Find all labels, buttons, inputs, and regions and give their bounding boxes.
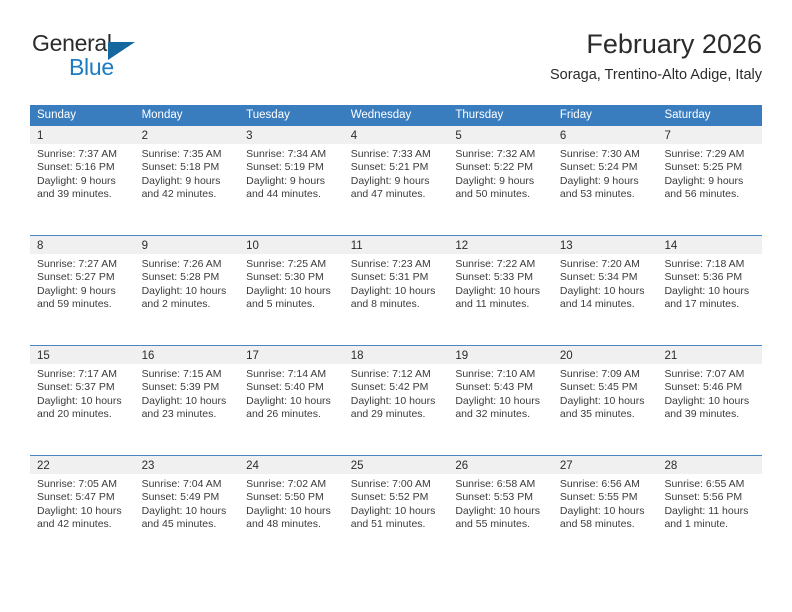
daylight-text-line1: Daylight: 10 hours: [351, 395, 442, 408]
day-info: Sunrise: 7:17 AM Sunset: 5:37 PM Dayligh…: [30, 364, 135, 422]
day-info: Sunrise: 7:25 AM Sunset: 5:30 PM Dayligh…: [239, 254, 344, 312]
daylight-text-line2: and 44 minutes.: [246, 188, 337, 201]
sunset-text: Sunset: 5:34 PM: [560, 271, 651, 284]
sunrise-text: Sunrise: 7:18 AM: [664, 258, 755, 271]
daylight-text-line2: and 17 minutes.: [664, 298, 755, 311]
day-number: 14: [664, 240, 677, 252]
daylight-text-line2: and 51 minutes.: [351, 518, 442, 531]
daylight-text-line1: Daylight: 10 hours: [664, 285, 755, 298]
day-number: 15: [37, 350, 50, 362]
daylight-text-line2: and 23 minutes.: [142, 408, 233, 421]
sunrise-text: Sunrise: 7:09 AM: [560, 368, 651, 381]
weekday-header-thursday: Thursday: [448, 105, 553, 126]
daylight-text-line2: and 58 minutes.: [560, 518, 651, 531]
day-info: Sunrise: 7:10 AM Sunset: 5:43 PM Dayligh…: [448, 364, 553, 422]
sunset-text: Sunset: 5:27 PM: [37, 271, 128, 284]
daylight-text-line2: and 39 minutes.: [37, 188, 128, 201]
day-number-band: 26: [448, 456, 553, 474]
day-number-band: 19: [448, 346, 553, 364]
daylight-text-line2: and 8 minutes.: [351, 298, 442, 311]
daylight-text-line1: Daylight: 9 hours: [246, 175, 337, 188]
daylight-text-line1: Daylight: 9 hours: [455, 175, 546, 188]
daylight-text-line1: Daylight: 9 hours: [351, 175, 442, 188]
page-header: General Blue February 2026 Soraga, Trent…: [30, 28, 762, 98]
daylight-text-line2: and 29 minutes.: [351, 408, 442, 421]
day-number: 27: [560, 460, 573, 472]
daylight-text-line1: Daylight: 10 hours: [246, 285, 337, 298]
sunset-text: Sunset: 5:40 PM: [246, 381, 337, 394]
day-number-band: 21: [657, 346, 762, 364]
daylight-text-line2: and 45 minutes.: [142, 518, 233, 531]
sunrise-text: Sunrise: 7:04 AM: [142, 478, 233, 491]
calendar-page: General Blue February 2026 Soraga, Trent…: [0, 0, 792, 612]
daylight-text-line2: and 32 minutes.: [455, 408, 546, 421]
day-cell[interactable]: 15 Sunrise: 7:17 AM Sunset: 5:37 PM Dayl…: [30, 346, 135, 455]
day-cell[interactable]: 25 Sunrise: 7:00 AM Sunset: 5:52 PM Dayl…: [344, 456, 449, 566]
daylight-text-line2: and 53 minutes.: [560, 188, 651, 201]
day-cell[interactable]: 9 Sunrise: 7:26 AM Sunset: 5:28 PM Dayli…: [135, 236, 240, 345]
sunset-text: Sunset: 5:49 PM: [142, 491, 233, 504]
daylight-text-line2: and 14 minutes.: [560, 298, 651, 311]
sunset-text: Sunset: 5:37 PM: [37, 381, 128, 394]
day-number: 6: [560, 130, 566, 142]
day-number-band: 28: [657, 456, 762, 474]
daylight-text-line1: Daylight: 10 hours: [664, 395, 755, 408]
sunset-text: Sunset: 5:52 PM: [351, 491, 442, 504]
day-cell[interactable]: 12 Sunrise: 7:22 AM Sunset: 5:33 PM Dayl…: [448, 236, 553, 345]
daylight-text-line2: and 35 minutes.: [560, 408, 651, 421]
daylight-text-line1: Daylight: 10 hours: [37, 395, 128, 408]
day-info: Sunrise: 7:20 AM Sunset: 5:34 PM Dayligh…: [553, 254, 658, 312]
sunrise-text: Sunrise: 6:58 AM: [455, 478, 546, 491]
day-number: 12: [455, 240, 468, 252]
day-cell[interactable]: 22 Sunrise: 7:05 AM Sunset: 5:47 PM Dayl…: [30, 456, 135, 566]
day-number: 23: [142, 460, 155, 472]
week-row: 8 Sunrise: 7:27 AM Sunset: 5:27 PM Dayli…: [30, 236, 762, 346]
sunset-text: Sunset: 5:50 PM: [246, 491, 337, 504]
day-number: 2: [142, 130, 148, 142]
daylight-text-line2: and 42 minutes.: [142, 188, 233, 201]
logo-text-general: General: [32, 30, 112, 57]
daylight-text-line1: Daylight: 10 hours: [142, 285, 233, 298]
daylight-text-line1: Daylight: 10 hours: [560, 505, 651, 518]
day-number: 3: [246, 130, 252, 142]
general-blue-logo: General Blue: [32, 30, 252, 88]
day-cell[interactable]: 27 Sunrise: 6:56 AM Sunset: 5:55 PM Dayl…: [553, 456, 658, 566]
day-number: 16: [142, 350, 155, 362]
day-number-band: 1: [30, 126, 135, 144]
sunrise-text: Sunrise: 7:26 AM: [142, 258, 233, 271]
daylight-text-line1: Daylight: 10 hours: [351, 285, 442, 298]
weekday-header-row: Sunday Monday Tuesday Wednesday Thursday…: [30, 105, 762, 126]
day-info: Sunrise: 7:02 AM Sunset: 5:50 PM Dayligh…: [239, 474, 344, 532]
day-number-band: 16: [135, 346, 240, 364]
day-number: 24: [246, 460, 259, 472]
day-number: 25: [351, 460, 364, 472]
day-cell[interactable]: 1 Sunrise: 7:37 AM Sunset: 5:16 PM Dayli…: [30, 126, 135, 235]
day-info: Sunrise: 7:32 AM Sunset: 5:22 PM Dayligh…: [448, 144, 553, 202]
weekday-header-saturday: Saturday: [657, 105, 762, 126]
daylight-text-line2: and 11 minutes.: [455, 298, 546, 311]
daylight-text-line2: and 20 minutes.: [37, 408, 128, 421]
sunrise-text: Sunrise: 7:30 AM: [560, 148, 651, 161]
daylight-text-line1: Daylight: 10 hours: [455, 505, 546, 518]
day-number-band: 5: [448, 126, 553, 144]
sunset-text: Sunset: 5:16 PM: [37, 161, 128, 174]
sunset-text: Sunset: 5:25 PM: [664, 161, 755, 174]
sunrise-text: Sunrise: 7:25 AM: [246, 258, 337, 271]
day-number-band: 10: [239, 236, 344, 254]
daylight-text-line2: and 26 minutes.: [246, 408, 337, 421]
day-cell[interactable]: 17 Sunrise: 7:14 AM Sunset: 5:40 PM Dayl…: [239, 346, 344, 455]
day-info: Sunrise: 6:58 AM Sunset: 5:53 PM Dayligh…: [448, 474, 553, 532]
day-number: 26: [455, 460, 468, 472]
sunset-text: Sunset: 5:22 PM: [455, 161, 546, 174]
sunset-text: Sunset: 5:36 PM: [664, 271, 755, 284]
day-number-band: 6: [553, 126, 658, 144]
daylight-text-line2: and 47 minutes.: [351, 188, 442, 201]
day-number-band: 4: [344, 126, 449, 144]
sunset-text: Sunset: 5:53 PM: [455, 491, 546, 504]
week-row: 15 Sunrise: 7:17 AM Sunset: 5:37 PM Dayl…: [30, 346, 762, 456]
calendar-grid: Sunday Monday Tuesday Wednesday Thursday…: [30, 105, 762, 566]
sunrise-text: Sunrise: 7:27 AM: [37, 258, 128, 271]
day-info: Sunrise: 7:33 AM Sunset: 5:21 PM Dayligh…: [344, 144, 449, 202]
day-number-band: 22: [30, 456, 135, 474]
sunset-text: Sunset: 5:56 PM: [664, 491, 755, 504]
day-number-band: 24: [239, 456, 344, 474]
sunset-text: Sunset: 5:30 PM: [246, 271, 337, 284]
day-number: 9: [142, 240, 148, 252]
day-cell[interactable]: 7 Sunrise: 7:29 AM Sunset: 5:25 PM Dayli…: [657, 126, 762, 235]
day-info: Sunrise: 7:37 AM Sunset: 5:16 PM Dayligh…: [30, 144, 135, 202]
daylight-text-line1: Daylight: 9 hours: [37, 175, 128, 188]
sunrise-text: Sunrise: 7:05 AM: [37, 478, 128, 491]
daylight-text-line2: and 56 minutes.: [664, 188, 755, 201]
day-number: 10: [246, 240, 259, 252]
day-cell[interactable]: 8 Sunrise: 7:27 AM Sunset: 5:27 PM Dayli…: [30, 236, 135, 345]
sunrise-text: Sunrise: 6:56 AM: [560, 478, 651, 491]
day-cell[interactable]: 10 Sunrise: 7:25 AM Sunset: 5:30 PM Dayl…: [239, 236, 344, 345]
day-info: Sunrise: 7:23 AM Sunset: 5:31 PM Dayligh…: [344, 254, 449, 312]
day-info: Sunrise: 7:14 AM Sunset: 5:40 PM Dayligh…: [239, 364, 344, 422]
day-cell[interactable]: 20 Sunrise: 7:09 AM Sunset: 5:45 PM Dayl…: [553, 346, 658, 455]
daylight-text-line1: Daylight: 10 hours: [560, 285, 651, 298]
sunrise-text: Sunrise: 6:55 AM: [664, 478, 755, 491]
sunrise-text: Sunrise: 7:00 AM: [351, 478, 442, 491]
daylight-text-line2: and 39 minutes.: [664, 408, 755, 421]
sunset-text: Sunset: 5:33 PM: [455, 271, 546, 284]
day-info: Sunrise: 7:15 AM Sunset: 5:39 PM Dayligh…: [135, 364, 240, 422]
day-cell[interactable]: 2 Sunrise: 7:35 AM Sunset: 5:18 PM Dayli…: [135, 126, 240, 235]
day-info: Sunrise: 7:34 AM Sunset: 5:19 PM Dayligh…: [239, 144, 344, 202]
page-subtitle: Soraga, Trentino-Alto Adige, Italy: [550, 65, 762, 86]
daylight-text-line1: Daylight: 10 hours: [560, 395, 651, 408]
sunrise-text: Sunrise: 7:02 AM: [246, 478, 337, 491]
daylight-text-line1: Daylight: 10 hours: [246, 505, 337, 518]
daylight-text-line1: Daylight: 10 hours: [37, 505, 128, 518]
daylight-text-line1: Daylight: 10 hours: [351, 505, 442, 518]
day-info: Sunrise: 7:07 AM Sunset: 5:46 PM Dayligh…: [657, 364, 762, 422]
daylight-text-line1: Daylight: 10 hours: [455, 395, 546, 408]
day-cell[interactable]: 4 Sunrise: 7:33 AM Sunset: 5:21 PM Dayli…: [344, 126, 449, 235]
day-number-band: 18: [344, 346, 449, 364]
sunset-text: Sunset: 5:43 PM: [455, 381, 546, 394]
day-cell[interactable]: 21 Sunrise: 7:07 AM Sunset: 5:46 PM Dayl…: [657, 346, 762, 455]
sunset-text: Sunset: 5:45 PM: [560, 381, 651, 394]
daylight-text-line1: Daylight: 10 hours: [142, 505, 233, 518]
sunrise-text: Sunrise: 7:14 AM: [246, 368, 337, 381]
day-number-band: 15: [30, 346, 135, 364]
day-number: 5: [455, 130, 461, 142]
day-number: 28: [664, 460, 677, 472]
day-number-band: 8: [30, 236, 135, 254]
day-cell[interactable]: 14 Sunrise: 7:18 AM Sunset: 5:36 PM Dayl…: [657, 236, 762, 345]
weekday-header-friday: Friday: [553, 105, 658, 126]
sunset-text: Sunset: 5:31 PM: [351, 271, 442, 284]
day-cell[interactable]: 26 Sunrise: 6:58 AM Sunset: 5:53 PM Dayl…: [448, 456, 553, 566]
day-number-band: 14: [657, 236, 762, 254]
day-number: 11: [351, 240, 363, 252]
week-row: 22 Sunrise: 7:05 AM Sunset: 5:47 PM Dayl…: [30, 456, 762, 566]
day-number: 8: [37, 240, 43, 252]
day-info: Sunrise: 7:26 AM Sunset: 5:28 PM Dayligh…: [135, 254, 240, 312]
sunset-text: Sunset: 5:18 PM: [142, 161, 233, 174]
weekday-header-sunday: Sunday: [30, 105, 135, 126]
day-number: 20: [560, 350, 573, 362]
sunrise-text: Sunrise: 7:15 AM: [142, 368, 233, 381]
sunrise-text: Sunrise: 7:10 AM: [455, 368, 546, 381]
page-title: February 2026: [550, 28, 762, 61]
sunrise-text: Sunrise: 7:34 AM: [246, 148, 337, 161]
daylight-text-line2: and 48 minutes.: [246, 518, 337, 531]
day-cell[interactable]: 23 Sunrise: 7:04 AM Sunset: 5:49 PM Dayl…: [135, 456, 240, 566]
sunrise-text: Sunrise: 7:07 AM: [664, 368, 755, 381]
sunrise-text: Sunrise: 7:35 AM: [142, 148, 233, 161]
day-number: 7: [664, 130, 670, 142]
daylight-text-line2: and 59 minutes.: [37, 298, 128, 311]
day-cell[interactable]: 6 Sunrise: 7:30 AM Sunset: 5:24 PM Dayli…: [553, 126, 658, 235]
sunset-text: Sunset: 5:39 PM: [142, 381, 233, 394]
sunset-text: Sunset: 5:21 PM: [351, 161, 442, 174]
day-info: Sunrise: 6:55 AM Sunset: 5:56 PM Dayligh…: [657, 474, 762, 532]
day-cell[interactable]: 18 Sunrise: 7:12 AM Sunset: 5:42 PM Dayl…: [344, 346, 449, 455]
day-cell[interactable]: 13 Sunrise: 7:20 AM Sunset: 5:34 PM Dayl…: [553, 236, 658, 345]
day-number-band: 27: [553, 456, 658, 474]
day-cell[interactable]: 28 Sunrise: 6:55 AM Sunset: 5:56 PM Dayl…: [657, 456, 762, 566]
daylight-text-line1: Daylight: 9 hours: [37, 285, 128, 298]
day-number-band: 25: [344, 456, 449, 474]
day-number-band: 11: [344, 236, 449, 254]
day-info: Sunrise: 7:04 AM Sunset: 5:49 PM Dayligh…: [135, 474, 240, 532]
day-number-band: 3: [239, 126, 344, 144]
sunrise-text: Sunrise: 7:23 AM: [351, 258, 442, 271]
sunset-text: Sunset: 5:24 PM: [560, 161, 651, 174]
day-cell[interactable]: 16 Sunrise: 7:15 AM Sunset: 5:39 PM Dayl…: [135, 346, 240, 455]
day-number: 13: [560, 240, 573, 252]
sunset-text: Sunset: 5:46 PM: [664, 381, 755, 394]
daylight-text-line1: Daylight: 10 hours: [246, 395, 337, 408]
day-info: Sunrise: 7:09 AM Sunset: 5:45 PM Dayligh…: [553, 364, 658, 422]
day-number: 17: [246, 350, 259, 362]
daylight-text-line2: and 5 minutes.: [246, 298, 337, 311]
day-number-band: 2: [135, 126, 240, 144]
day-number-band: 9: [135, 236, 240, 254]
sunrise-text: Sunrise: 7:20 AM: [560, 258, 651, 271]
day-info: Sunrise: 7:18 AM Sunset: 5:36 PM Dayligh…: [657, 254, 762, 312]
daylight-text-line1: Daylight: 9 hours: [142, 175, 233, 188]
sunrise-text: Sunrise: 7:29 AM: [664, 148, 755, 161]
sunrise-text: Sunrise: 7:22 AM: [455, 258, 546, 271]
day-cell[interactable]: 19 Sunrise: 7:10 AM Sunset: 5:43 PM Dayl…: [448, 346, 553, 455]
day-cell[interactable]: 3 Sunrise: 7:34 AM Sunset: 5:19 PM Dayli…: [239, 126, 344, 235]
day-cell[interactable]: 11 Sunrise: 7:23 AM Sunset: 5:31 PM Dayl…: [344, 236, 449, 345]
day-info: Sunrise: 7:00 AM Sunset: 5:52 PM Dayligh…: [344, 474, 449, 532]
day-number-band: 7: [657, 126, 762, 144]
weekday-header-wednesday: Wednesday: [344, 105, 449, 126]
day-number: 22: [37, 460, 50, 472]
day-number-band: 23: [135, 456, 240, 474]
sunrise-text: Sunrise: 7:33 AM: [351, 148, 442, 161]
sunset-text: Sunset: 5:28 PM: [142, 271, 233, 284]
daylight-text-line1: Daylight: 10 hours: [455, 285, 546, 298]
sunrise-text: Sunrise: 7:37 AM: [37, 148, 128, 161]
day-number: 19: [455, 350, 468, 362]
week-row: 1 Sunrise: 7:37 AM Sunset: 5:16 PM Dayli…: [30, 126, 762, 236]
day-cell[interactable]: 24 Sunrise: 7:02 AM Sunset: 5:50 PM Dayl…: [239, 456, 344, 566]
day-info: Sunrise: 7:12 AM Sunset: 5:42 PM Dayligh…: [344, 364, 449, 422]
daylight-text-line2: and 42 minutes.: [37, 518, 128, 531]
day-number: 4: [351, 130, 357, 142]
daylight-text-line1: Daylight: 9 hours: [664, 175, 755, 188]
day-info: Sunrise: 6:56 AM Sunset: 5:55 PM Dayligh…: [553, 474, 658, 532]
day-number-band: 20: [553, 346, 658, 364]
day-number: 18: [351, 350, 364, 362]
daylight-text-line2: and 55 minutes.: [455, 518, 546, 531]
daylight-text-line1: Daylight: 9 hours: [560, 175, 651, 188]
sunset-text: Sunset: 5:47 PM: [37, 491, 128, 504]
day-info: Sunrise: 7:29 AM Sunset: 5:25 PM Dayligh…: [657, 144, 762, 202]
sunset-text: Sunset: 5:42 PM: [351, 381, 442, 394]
day-number: 21: [664, 350, 677, 362]
weekday-header-tuesday: Tuesday: [239, 105, 344, 126]
day-number: 1: [37, 130, 43, 142]
day-info: Sunrise: 7:27 AM Sunset: 5:27 PM Dayligh…: [30, 254, 135, 312]
daylight-text-line2: and 2 minutes.: [142, 298, 233, 311]
daylight-text-line1: Daylight: 10 hours: [142, 395, 233, 408]
day-number-band: 17: [239, 346, 344, 364]
sunset-text: Sunset: 5:55 PM: [560, 491, 651, 504]
daylight-text-line1: Daylight: 11 hours: [664, 505, 755, 518]
daylight-text-line2: and 50 minutes.: [455, 188, 546, 201]
sunrise-text: Sunrise: 7:17 AM: [37, 368, 128, 381]
day-cell[interactable]: 5 Sunrise: 7:32 AM Sunset: 5:22 PM Dayli…: [448, 126, 553, 235]
day-info: Sunrise: 7:22 AM Sunset: 5:33 PM Dayligh…: [448, 254, 553, 312]
sunrise-text: Sunrise: 7:32 AM: [455, 148, 546, 161]
sunrise-text: Sunrise: 7:12 AM: [351, 368, 442, 381]
day-number-band: 12: [448, 236, 553, 254]
title-block: February 2026 Soraga, Trentino-Alto Adig…: [550, 28, 762, 86]
day-info: Sunrise: 7:30 AM Sunset: 5:24 PM Dayligh…: [553, 144, 658, 202]
weekday-header-monday: Monday: [135, 105, 240, 126]
logo-text-blue: Blue: [69, 54, 114, 81]
day-info: Sunrise: 7:05 AM Sunset: 5:47 PM Dayligh…: [30, 474, 135, 532]
daylight-text-line2: and 1 minute.: [664, 518, 755, 531]
sunset-text: Sunset: 5:19 PM: [246, 161, 337, 174]
day-info: Sunrise: 7:35 AM Sunset: 5:18 PM Dayligh…: [135, 144, 240, 202]
day-number-band: 13: [553, 236, 658, 254]
